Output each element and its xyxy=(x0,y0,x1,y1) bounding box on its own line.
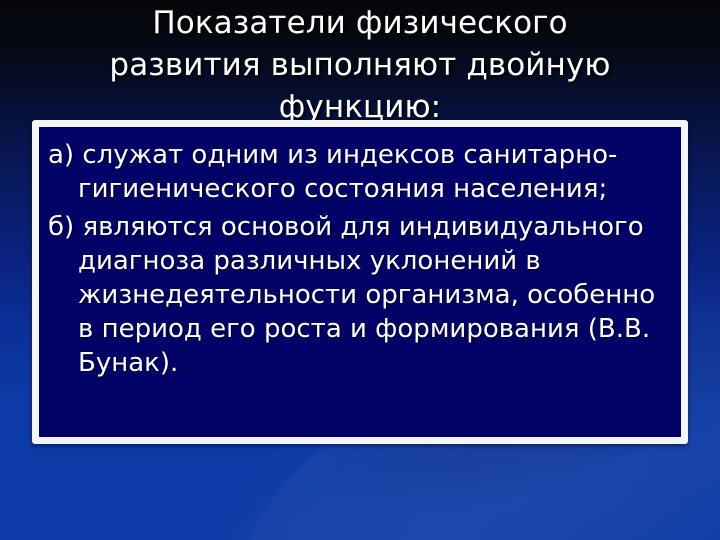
slide-canvas: Показатели физического развития выполняю… xyxy=(0,0,720,540)
body-list: а) служат одним из индексов санитарно-ги… xyxy=(39,127,681,380)
list-item: б) являются основой для индивидуального … xyxy=(48,210,672,380)
slide-title: Показатели физического развития выполняю… xyxy=(34,2,686,128)
content-box: а) служат одним из индексов санитарно-ги… xyxy=(32,120,688,444)
list-item: а) служат одним из индексов санитарно-ги… xyxy=(48,138,672,206)
